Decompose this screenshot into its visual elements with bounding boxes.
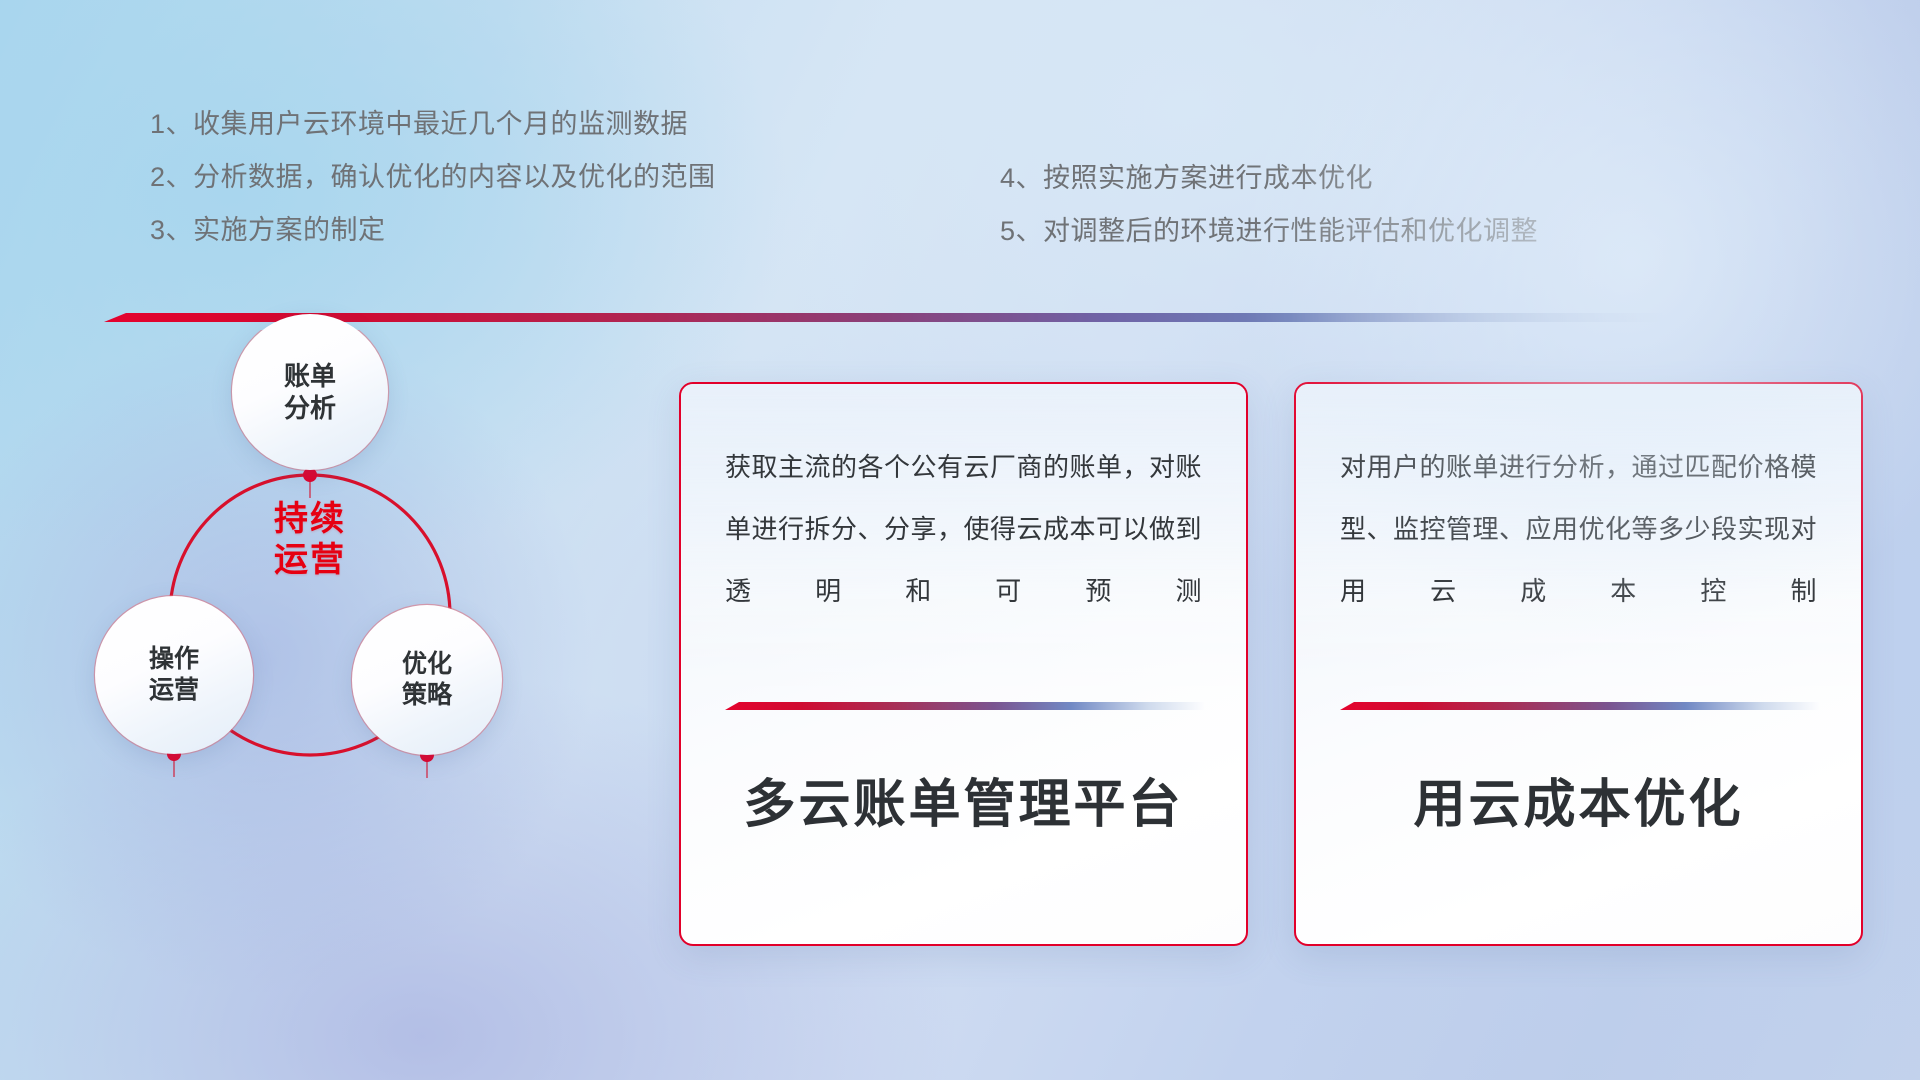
card-left-rule	[725, 702, 1205, 710]
card-right-description: 对用户的账单进行分析，通过匹配价格模型、监控管理、应用优化等多少段实现对用云成本…	[1340, 436, 1817, 622]
step-item-4: 4、按照实施方案进行成本优化	[1000, 152, 1538, 205]
steps-list-left: 1、收集用户云环境中最近几个月的监测数据 2、分析数据，确认优化的内容以及优化的…	[150, 98, 716, 257]
venn-center-line1: 持续	[274, 499, 346, 540]
slide-canvas: 1、收集用户云环境中最近几个月的监测数据 2、分析数据，确认优化的内容以及优化的…	[0, 0, 1920, 1080]
venn-bubble-top-line2: 分析	[284, 392, 336, 424]
card-left-description: 获取主流的各个公有云厂商的账单，对账单进行拆分、分享，使得云成本可以做到透明和可…	[725, 436, 1202, 622]
venn-bubble-bl-line1: 操作	[149, 644, 199, 675]
venn-bubble-br-line2: 策略	[402, 680, 452, 711]
card-right-body: 对用户的账单进行分析，通过匹配价格模型、监控管理、应用优化等多少段实现对用云成本…	[1296, 384, 1861, 622]
card-right-rule	[1340, 702, 1820, 710]
feature-card-billing-platform[interactable]: 获取主流的各个公有云厂商的账单，对账单进行拆分、分享，使得云成本可以做到透明和可…	[679, 382, 1248, 946]
step-item-3: 3、实施方案的制定	[150, 204, 716, 257]
venn-diagram: 账单 分析 操作 运营 优化 策略 持续 运营	[80, 330, 640, 950]
card-right-title: 用云成本优化	[1296, 762, 1861, 837]
steps-list-right: 4、按照实施方案进行成本优化 5、对调整后的环境进行性能评估和优化调整	[1000, 152, 1538, 258]
card-left-body: 获取主流的各个公有云厂商的账单，对账单进行拆分、分享，使得云成本可以做到透明和可…	[681, 384, 1246, 622]
venn-bubble-billing-analysis[interactable]: 账单 分析	[232, 314, 388, 470]
venn-center-line2: 运营	[274, 540, 346, 581]
venn-bubble-optimization-strategy[interactable]: 优化 策略	[352, 605, 502, 755]
step-item-1: 1、收集用户云环境中最近几个月的监测数据	[150, 98, 716, 151]
venn-bubble-top-line1: 账单	[284, 360, 336, 392]
card-left-title: 多云账单管理平台	[681, 762, 1246, 837]
step-item-2: 2、分析数据，确认优化的内容以及优化的范围	[150, 151, 716, 204]
venn-center-label: 持续 运营	[230, 480, 390, 600]
venn-bubble-br-line1: 优化	[402, 649, 452, 680]
feature-card-cost-optimization[interactable]: 对用户的账单进行分析，通过匹配价格模型、监控管理、应用优化等多少段实现对用云成本…	[1294, 382, 1863, 946]
venn-bubble-operations[interactable]: 操作 运营	[95, 596, 253, 754]
venn-bubble-bl-line2: 运营	[149, 675, 199, 706]
step-item-5: 5、对调整后的环境进行性能评估和优化调整	[1000, 205, 1538, 258]
